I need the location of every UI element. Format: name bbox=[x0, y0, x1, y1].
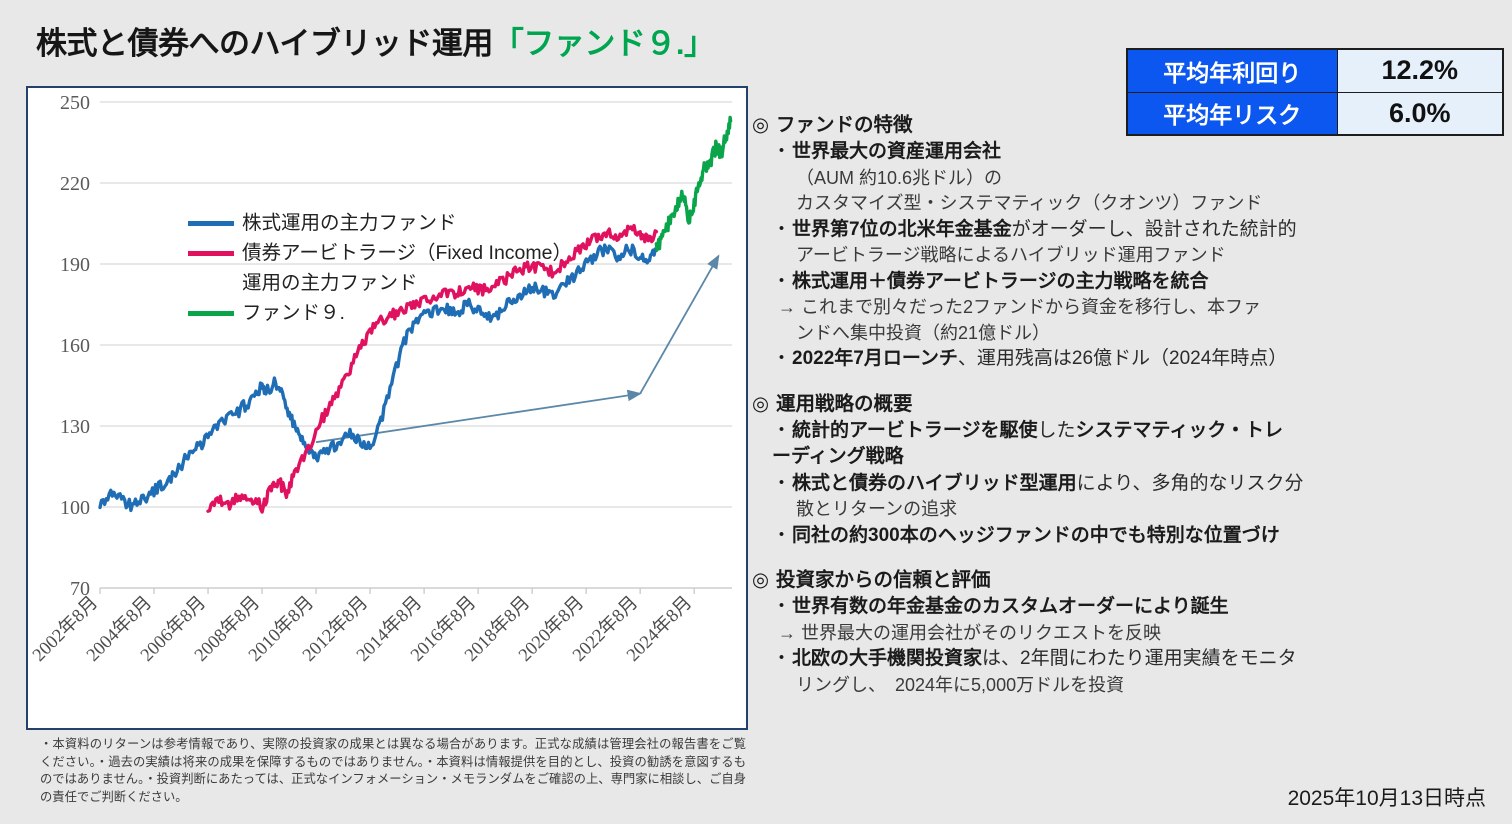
sub-item: カスタマイズ型・システマティック（クオンツ）ファンド bbox=[752, 191, 1504, 217]
bullet-emphasis-text: 株式運用＋債券アービトラージの主力戦略を統合 bbox=[792, 271, 1208, 292]
bullet-dot-icon: ・ bbox=[772, 420, 791, 441]
bullet-dot-icon: ・ bbox=[772, 473, 791, 494]
bullet-dot-icon: ・ bbox=[772, 525, 791, 546]
legend-swatch-fixed-income bbox=[188, 251, 234, 256]
page-title-accent: 「ファンド９.」 bbox=[493, 26, 715, 61]
bullet-regular-text: 、運用残高は26億ドル（2024年時点） bbox=[958, 348, 1287, 369]
disclaimer-text: ・本資料のリターンは参考情報であり、実際の投資家の成果とは異なる場合があります。… bbox=[40, 736, 746, 806]
bullet-item: ーディング戦略 bbox=[752, 444, 1504, 471]
sub-item: リングし、 2024年に5,000万ドルを投資 bbox=[752, 673, 1504, 699]
trend-arrow-annotation bbox=[316, 394, 640, 443]
sub-item: 散とリターンの追求 bbox=[752, 497, 1504, 523]
y-axis-tick-label: 100 bbox=[60, 497, 90, 519]
bullet-item: ・2022年7月ローンチ、運用残高は26億ドル（2024年時点） bbox=[752, 346, 1504, 373]
y-axis-tick-label: 220 bbox=[60, 173, 90, 195]
footer-date: 2025年10月13日時点 bbox=[1288, 782, 1486, 812]
bullet-emphasis-text: 北欧の大手機関投資家 bbox=[792, 648, 982, 669]
bullet-regular-text: した bbox=[1038, 420, 1076, 441]
legend-item-equity: 株式運用の主力ファンド bbox=[188, 208, 572, 238]
section-heading: ◎投資家からの信頼と評価 bbox=[752, 563, 1504, 592]
y-axis-tick-label: 190 bbox=[60, 254, 90, 276]
legend-label-equity: 株式運用の主力ファンド bbox=[242, 208, 457, 238]
bullet-emphasis-text: システマティック・トレ bbox=[1076, 420, 1283, 441]
bullet-emphasis-text: 世界有数の年金基金のカスタムオーダーにより誕生 bbox=[792, 596, 1229, 617]
section-heading-label: ファンドの特徴 bbox=[776, 114, 913, 136]
stat-value-annual-return: 12.2% bbox=[1337, 49, 1503, 92]
bullet-dot-icon: ・ bbox=[772, 271, 791, 292]
bullet-item: ・世界最大の資産運用会社 bbox=[752, 139, 1504, 166]
section-marker-icon: ◎ bbox=[752, 393, 769, 415]
bullet-dot-icon: ・ bbox=[772, 219, 791, 240]
content-section: ◎ファンドの特徴・世界最大の資産運用会社（AUM 約10.6兆ドル）のカスタマイ… bbox=[752, 108, 1504, 373]
bullet-item: ・北欧の大手機関投資家は、2年間にわたり運用実績をモニタ bbox=[752, 646, 1504, 673]
y-axis-tick-label: 130 bbox=[60, 416, 90, 438]
bullet-item: ・世界有数の年金基金のカスタムオーダーにより誕生 bbox=[752, 594, 1504, 621]
bullet-dot-icon: ・ bbox=[772, 348, 791, 369]
section-marker-icon: ◎ bbox=[752, 114, 769, 136]
legend-swatch-equity bbox=[188, 221, 234, 226]
y-axis-tick-label: 160 bbox=[60, 335, 90, 357]
bullet-item: ・世界第7位の北米年金基金がオーダーし、設計された統計的 bbox=[752, 217, 1504, 244]
y-axis-tick-label: 250 bbox=[60, 92, 90, 114]
sub-item: アービトラージ戦略によるハイブリッド運用ファンド bbox=[752, 243, 1504, 269]
bullet-regular-text: により、多角的なリスク分 bbox=[1077, 473, 1304, 494]
section-heading-label: 投資家からの信頼と評価 bbox=[776, 569, 991, 591]
performance-chart-panel: 701001301601902202502002年8月2004年8月2006年8… bbox=[26, 86, 748, 730]
section-heading: ◎運用戦略の概要 bbox=[752, 387, 1504, 416]
bullet-regular-text: がオーダーし、設計された統計的 bbox=[1012, 219, 1297, 240]
legend-label-fixed-income: 債券アービトラージ（Fixed Income） bbox=[242, 238, 572, 268]
page-title-main: 株式と債券へのハイブリッド運用 bbox=[36, 26, 493, 61]
legend-label-fund9: ファンド９. bbox=[242, 298, 345, 328]
sub-item: （AUM 約10.6兆ドル）の bbox=[752, 166, 1504, 192]
stat-label-annual-return: 平均年利回り bbox=[1127, 49, 1337, 92]
bullet-dot-icon: ・ bbox=[772, 648, 791, 669]
sub-item: → これまで別々だった2ファンドから資金を移行し、本ファ bbox=[752, 295, 1504, 321]
performance-chart: 701001301601902202502002年8月2004年8月2006年8… bbox=[28, 88, 746, 728]
sub-item: → 世界最大の運用会社がそのリクエストを反映 bbox=[752, 621, 1504, 647]
bullet-emphasis-text: 統計的アービトラージを駆使 bbox=[792, 420, 1037, 441]
bullet-item: ・統計的アービトラージを駆使したシステマティック・トレ bbox=[752, 418, 1504, 445]
page-title: 株式と債券へのハイブリッド運用「ファンド９.」 bbox=[36, 18, 715, 63]
content-section: ◎投資家からの信頼と評価・世界有数の年金基金のカスタムオーダーにより誕生→ 世界… bbox=[752, 563, 1504, 698]
bullet-emphasis-text: 2022年7月ローンチ bbox=[792, 348, 958, 369]
legend-item-fixed-income: 債券アービトラージ（Fixed Income） bbox=[188, 238, 572, 268]
bullet-item: ・同社の約300本のヘッジファンドの中でも特別な位置づけ bbox=[752, 523, 1504, 550]
section-heading: ◎ファンドの特徴 bbox=[752, 108, 1504, 137]
legend-label-fixed-income-line2: 運用の主力ファンド bbox=[242, 268, 418, 298]
bullet-emphasis-text: ーディング戦略 bbox=[772, 446, 904, 467]
trend-arrow-annotation bbox=[640, 256, 718, 394]
bullet-dot-icon: ・ bbox=[772, 596, 791, 617]
bullet-dot-icon: ・ bbox=[772, 141, 791, 162]
section-heading-label: 運用戦略の概要 bbox=[776, 393, 913, 415]
section-marker-icon: ◎ bbox=[752, 569, 769, 591]
bullet-emphasis-text: 世界最大の資産運用会社 bbox=[792, 141, 1001, 162]
content-section: ◎運用戦略の概要・統計的アービトラージを駆使したシステマティック・トレーディング… bbox=[752, 387, 1504, 550]
content-column: ◎ファンドの特徴・世界最大の資産運用会社（AUM 約10.6兆ドル）のカスタマイ… bbox=[752, 108, 1504, 712]
legend-item-fund9: ファンド９. bbox=[188, 298, 572, 328]
bullet-item: ・株式と債券のハイブリッド型運用により、多角的なリスク分 bbox=[752, 471, 1504, 498]
bullet-emphasis-text: 株式と債券のハイブリッド型運用 bbox=[792, 473, 1077, 494]
legend-swatch-blank bbox=[188, 281, 234, 286]
bullet-emphasis-text: 世界第7位の北米年金基金 bbox=[792, 219, 1012, 240]
bullet-item: ・株式運用＋債券アービトラージの主力戦略を統合 bbox=[752, 269, 1504, 296]
bullet-emphasis-text: 同社の約300本のヘッジファンドの中でも特別な位置づけ bbox=[792, 525, 1280, 546]
chart-legend: 株式運用の主力ファンド 債券アービトラージ（Fixed Income） 運用の主… bbox=[188, 208, 572, 328]
legend-swatch-fund9 bbox=[188, 311, 234, 316]
table-row: 平均年利回り 12.2% bbox=[1127, 49, 1503, 92]
bullet-regular-text: は、2年間にわたり運用実績をモニタ bbox=[982, 648, 1297, 669]
sub-item: ンドへ集中投資（約21億ドル） bbox=[752, 321, 1504, 347]
legend-item-fixed-income-line2: 運用の主力ファンド bbox=[188, 268, 572, 298]
